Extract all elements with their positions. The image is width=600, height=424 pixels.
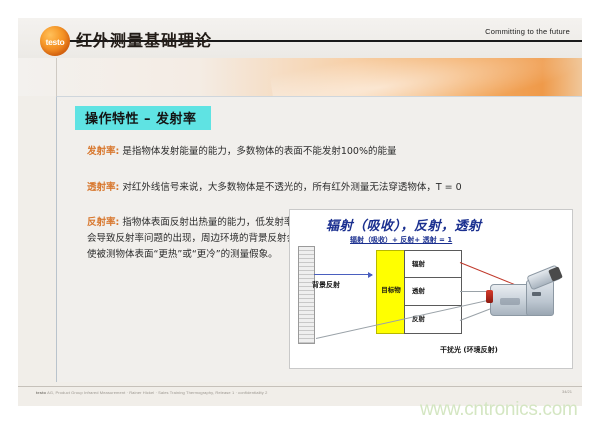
paragraph-body: 是指物体发射能量的能力，多数物体的表面不能发射100%的能量 <box>119 146 396 157</box>
logo-text: testo <box>40 37 70 47</box>
footer-detail: AG, Product Group Infrared Measurement ·… <box>47 390 267 395</box>
row-transmission: 透射 <box>405 278 461 305</box>
row-reflection: 反射 <box>405 306 461 333</box>
testo-logo-icon: testo <box>40 26 70 56</box>
background-label: 背景反射 <box>312 280 340 290</box>
row-label: 透射 <box>412 285 425 295</box>
footer-company: testo <box>36 390 46 395</box>
camera-lens <box>486 290 493 303</box>
diagram-title: 辐射（吸收），反射，透射 <box>326 215 482 234</box>
paragraph-transmissivity: 透射率: 对红外线信号来说，大多数物体是不透光的，所有红外测量无法穿透物体，T … <box>87 180 567 196</box>
row-radiation: 辐射 <box>405 251 461 278</box>
component-rows: 辐射 透射 反射 <box>404 250 462 334</box>
paragraph-body: 指物体表面反射出热量的能力，低发射率会导致反射率问题的出现，周边环境的背景反射会… <box>87 217 296 260</box>
footer-rule <box>18 386 582 387</box>
section-subtitle: 操作特性 – 发射率 <box>75 106 211 130</box>
paragraph-reflectivity: 反射率: 指物体表面反射出热量的能力，低发射率会导致反射率问题的出现，周边环境的… <box>87 215 299 263</box>
paragraph-keyword: 透射率: <box>87 182 119 193</box>
footer-text: testo AG, Product Group Infrared Measure… <box>36 390 536 395</box>
site-watermark: www.cntronics.com <box>420 399 578 421</box>
page-title: 红外测量基础理论 <box>76 27 212 51</box>
band-divider <box>56 58 582 96</box>
slide: Committing to the future testo 红外测量基础理论 … <box>18 18 582 406</box>
brand-tagline: Committing to the future <box>485 27 570 36</box>
radiation-diagram: 辐射（吸收），反射，透射 辐射（吸收）+ 反射+ 透射 = 1 背景反射 目标物… <box>289 209 573 369</box>
row-label: 辐射 <box>412 258 425 268</box>
background-arrow-icon <box>314 274 372 275</box>
background-grid-icon <box>298 246 315 344</box>
paragraph-body: 对红外线信号来说，大多数物体是不透光的，所有红外测量无法穿透物体，T = 0 <box>119 182 461 193</box>
diagram-equation: 辐射（吸收）+ 反射+ 透射 = 1 <box>350 235 452 245</box>
ambient-label: 干扰光 (环境反射) <box>440 345 498 355</box>
paragraph-keyword: 发射率: <box>87 146 119 157</box>
camera-button <box>532 292 541 296</box>
thermal-camera-icon <box>488 268 562 324</box>
target-label: 目标物 <box>377 284 405 294</box>
content-panel: 操作特性 – 发射率 发射率: 是指物体发射能量的能力，多数物体的表面不能发射1… <box>56 96 582 382</box>
paragraph-keyword: 反射率: <box>87 217 119 228</box>
title-band <box>18 58 582 96</box>
camera-grip <box>500 298 520 305</box>
paragraph-emissivity: 发射率: 是指物体发射能量的能力，多数物体的表面不能发射100%的能量 <box>87 144 557 160</box>
page-number: 34/21 <box>562 389 572 394</box>
